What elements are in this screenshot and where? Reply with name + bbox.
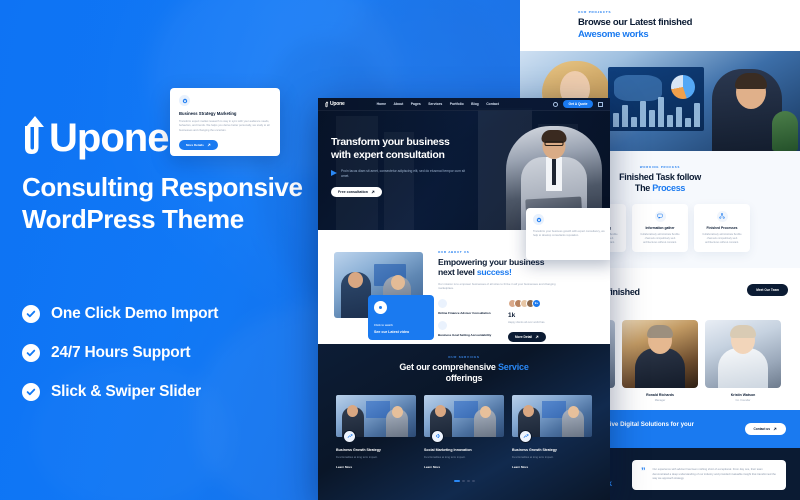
search-icon[interactable] [553,102,558,107]
megaphone-icon [431,430,444,443]
process-card[interactable]: Information gather Collaboratively admin… [632,204,688,252]
title-line-2-highlight: Process [652,183,685,193]
preview-canvas: Upone Consulting Responsive WordPress Th… [0,0,800,500]
check-circle-icon [22,344,40,362]
services-header: Our Services Get our comprehensive Servi… [318,344,610,385]
get-a-quote-button[interactable]: Get A Quote [563,100,593,108]
finance-advisor-icon [438,299,447,308]
service-card-list: Business Growth Strategy Functionalities… [318,395,610,469]
about-content: Our About Us Empowering your business ne… [438,250,598,343]
site-navbar: Upone Home About Pages Services Portfoli… [318,98,610,111]
hair-shape [730,325,756,338]
nav-link-blog[interactable]: Blog [471,102,479,106]
about-columns: Online Finance Advisor Consultation Busi… [438,299,598,343]
process-card-desc: Collaboratively administrate flexible ch… [638,233,682,245]
face-shape [392,406,403,418]
business-strategy-card-desc: Transform expert market research to stay… [179,120,271,133]
contact-us-button[interactable]: Contact us [745,423,786,435]
quote-mark-icon: ” [641,468,646,482]
nav-link-portfolio[interactable]: Portfolio [450,102,464,106]
hamburger-menu-icon[interactable] [598,102,603,107]
section-title: Browse our Latest finished Awesome works [578,17,742,41]
nav-link-home[interactable]: Home [377,102,386,106]
strategy-badge-icon [179,95,190,106]
testimonial-card: ” Our experience with advisor has been n… [632,460,786,490]
hero-section: Upone Home About Pages Services Portfoli… [318,98,610,230]
play-circle-icon[interactable] [374,301,387,314]
about-point-label: Business Goal Setting Accountability [438,333,494,337]
person-figure [718,348,768,388]
up-arrow-logo-icon [325,101,329,108]
homepage-mockup: Upone Home About Pages Services Portfoli… [318,98,610,500]
free-consultation-button[interactable]: Free consultation [331,187,382,197]
process-card-title: Information gather [638,226,682,230]
portfolio-header: Our projects Browse our Latest finished … [520,0,800,41]
title-line-1: Browse our Latest finished [578,17,692,28]
video-card-line1: Click to watch [374,323,393,327]
team-member-role: Manager [622,399,698,402]
team-member-name: Ronald Richards [622,393,698,397]
brand-name: Upone [49,118,168,158]
more-details-button[interactable]: More Details [179,140,218,150]
about-points: Online Finance Advisor Consultation Busi… [438,299,494,343]
more-detail-button-label: More Detail [515,335,532,339]
learn-more-link[interactable]: Learn More [512,465,592,469]
free-consultation-label: Free consultation [338,190,368,194]
navbar-actions: Get A Quote [553,100,603,108]
about-title-line-2-plain: next level [438,267,477,277]
business-strategy-card-title: Business Strategy Marketing [179,111,271,116]
carousel-dot[interactable] [462,480,465,483]
services-title: Get our comprehensive Service offerings [318,362,610,385]
nav-link-about[interactable]: About [393,102,403,106]
hair-shape [735,73,767,89]
carousel-dot[interactable] [472,480,475,483]
service-card[interactable]: Business Growth Strategy Functionalities… [512,395,592,469]
hero-floating-card: Transform your business growth with expe… [526,208,610,260]
video-card-line2: See our Latest video [374,330,409,334]
arrow-up-right-icon [207,143,211,147]
feature-label: 24/7 Hours Support [51,344,190,362]
team-member-name: Kristin Watson [705,393,781,397]
carousel-dot[interactable] [467,480,470,483]
play-triangle-icon [331,170,337,176]
contact-us-button-label: Contact us [754,427,770,431]
about-description: Our mission is to empower businesses of … [438,282,558,291]
hero-title: Transform your business with expert cons… [331,136,471,162]
nav-link-contact[interactable]: Contact [486,102,499,106]
service-card-title: Social Marketing Innovation [424,448,504,453]
nav-link-pages[interactable]: Pages [411,102,421,106]
service-card-desc: Functionalities at long term impact. [336,456,416,460]
glasses-icon [545,141,564,146]
arrow-up-right-icon [371,190,375,194]
about-stats: 9+ 1k Happy clients all over world has. … [508,299,564,343]
section-eyebrow: Our projects [578,10,742,14]
face-shape [347,405,358,417]
title-line-1: Finished Task follow [619,172,701,182]
face-shape [523,405,534,417]
hero-description: Proin lacus diam sit amet, consectetur a… [341,169,471,179]
nav-link-services[interactable]: Services [428,102,442,106]
up-arrow-logo-icon [22,114,48,158]
avatar-count-badge: 9+ [532,299,541,308]
check-circle-icon [22,383,40,401]
team-member-role: Co. Founder [705,399,781,402]
feature-list: One Click Demo Import 24/7 Hours Support… [22,305,218,401]
service-card-desc: Functionalities at long term impact. [424,456,504,460]
services-title-highlight: Service [498,362,529,372]
more-details-button-label: More Details [186,143,204,147]
arrow-up-right-icon [773,427,777,431]
nav-link-list: Home About Pages Services Portfolio Blog… [377,102,499,106]
service-card-title: Business Growth Strategy [512,448,592,453]
about-title-highlight: success! [477,267,512,277]
about-title: Empowering your business next level succ… [438,257,598,278]
learn-more-link[interactable]: Learn More [336,465,416,469]
process-card-desc: Collaboratively administrate flexible ch… [700,233,744,245]
nav-logo[interactable]: Upone [325,101,345,108]
headline-line-1: Consulting Responsive [22,172,303,202]
dashboard-screen [608,67,704,131]
meet-team-button[interactable]: Meet Our Team [747,284,788,296]
check-circle-icon [22,305,40,323]
avatar-stack: 9+ [508,299,564,308]
growth-chart-icon [343,430,356,443]
title-line-2: Awesome works [578,29,648,40]
face-shape [391,275,405,290]
nav-logo-label: Upone [330,101,345,107]
goal-setting-icon [438,321,447,330]
team-member-card[interactable]: Ronald Richards Manager [622,320,698,402]
services-title-plain-2: offerings [446,373,483,383]
chat-info-icon [655,211,666,222]
services-title-plain-1: Get our comprehensive [399,362,498,372]
brand-logo: Upone [22,114,168,158]
face-shape [480,406,491,418]
section-eyebrow: Our Services [318,355,610,359]
stat-caption: Happy clients all over world has. [508,321,564,325]
team-member-card[interactable]: Kristin Watson Co. Founder [705,320,781,402]
title-line-2-plain: The [635,183,652,193]
about-point-label: Online Finance Advisor Consultation [438,311,494,315]
face-shape [568,406,579,418]
network-icon [717,211,728,222]
stat-number: 1k [508,312,564,319]
process-card[interactable]: Finished Processes Collaboratively admin… [694,204,750,252]
services-section: Our Services Get our comprehensive Servi… [318,344,610,500]
bar-chart-graphic [613,97,700,127]
hair-shape [647,325,673,338]
hero-floating-card-text: Transform your business growth with expe… [533,230,607,239]
service-card[interactable]: Social Marketing Innovation Functionalit… [424,395,504,469]
arrow-up-right-icon [535,335,539,339]
list-item: One Click Demo Import [22,305,218,323]
service-card-title: Business Growth Strategy [336,448,416,453]
list-item: 24/7 Hours Support [22,344,218,362]
page-title: Consulting Responsive WordPress Theme [22,172,352,235]
hero-subtext: Proin lacus diam sit amet, consectetur a… [331,169,471,179]
avatar [705,320,781,388]
face-shape [435,405,446,417]
feature-label: Slick & Swiper Slider [51,383,201,401]
service-card[interactable]: Business Growth Strategy Functionalities… [336,395,416,469]
video-promo-card[interactable]: Click to watch See our Latest video [368,295,434,340]
service-card-desc: Functionalities at long term impact. [512,456,592,460]
list-item: Slick & Swiper Slider [22,383,218,401]
avatar [622,320,698,388]
business-strategy-card: Business Strategy Marketing Transform ex… [170,88,280,156]
pie-chart-graphic [671,75,695,99]
tie-shape [552,159,556,185]
more-detail-button[interactable]: More Detail [508,332,546,342]
carousel-pagination[interactable] [318,480,610,483]
face-shape [348,272,363,288]
learn-more-link[interactable]: Learn More [424,465,504,469]
testimonial-quote: Our experience with advisor has been not… [653,468,778,482]
headline-line-2: WordPress Theme [22,204,244,234]
growth-chart-icon [519,430,532,443]
meet-team-button-label: Meet Our Team [756,288,779,292]
hero-content: Transform your business with expert cons… [331,136,471,198]
person-figure [635,348,685,388]
carousel-dot[interactable] [454,480,460,483]
sparkle-badge-icon [533,214,544,225]
plant-decor [772,111,798,151]
feature-label: One Click Demo Import [51,305,218,323]
process-card-title: Finished Processes [700,226,744,230]
